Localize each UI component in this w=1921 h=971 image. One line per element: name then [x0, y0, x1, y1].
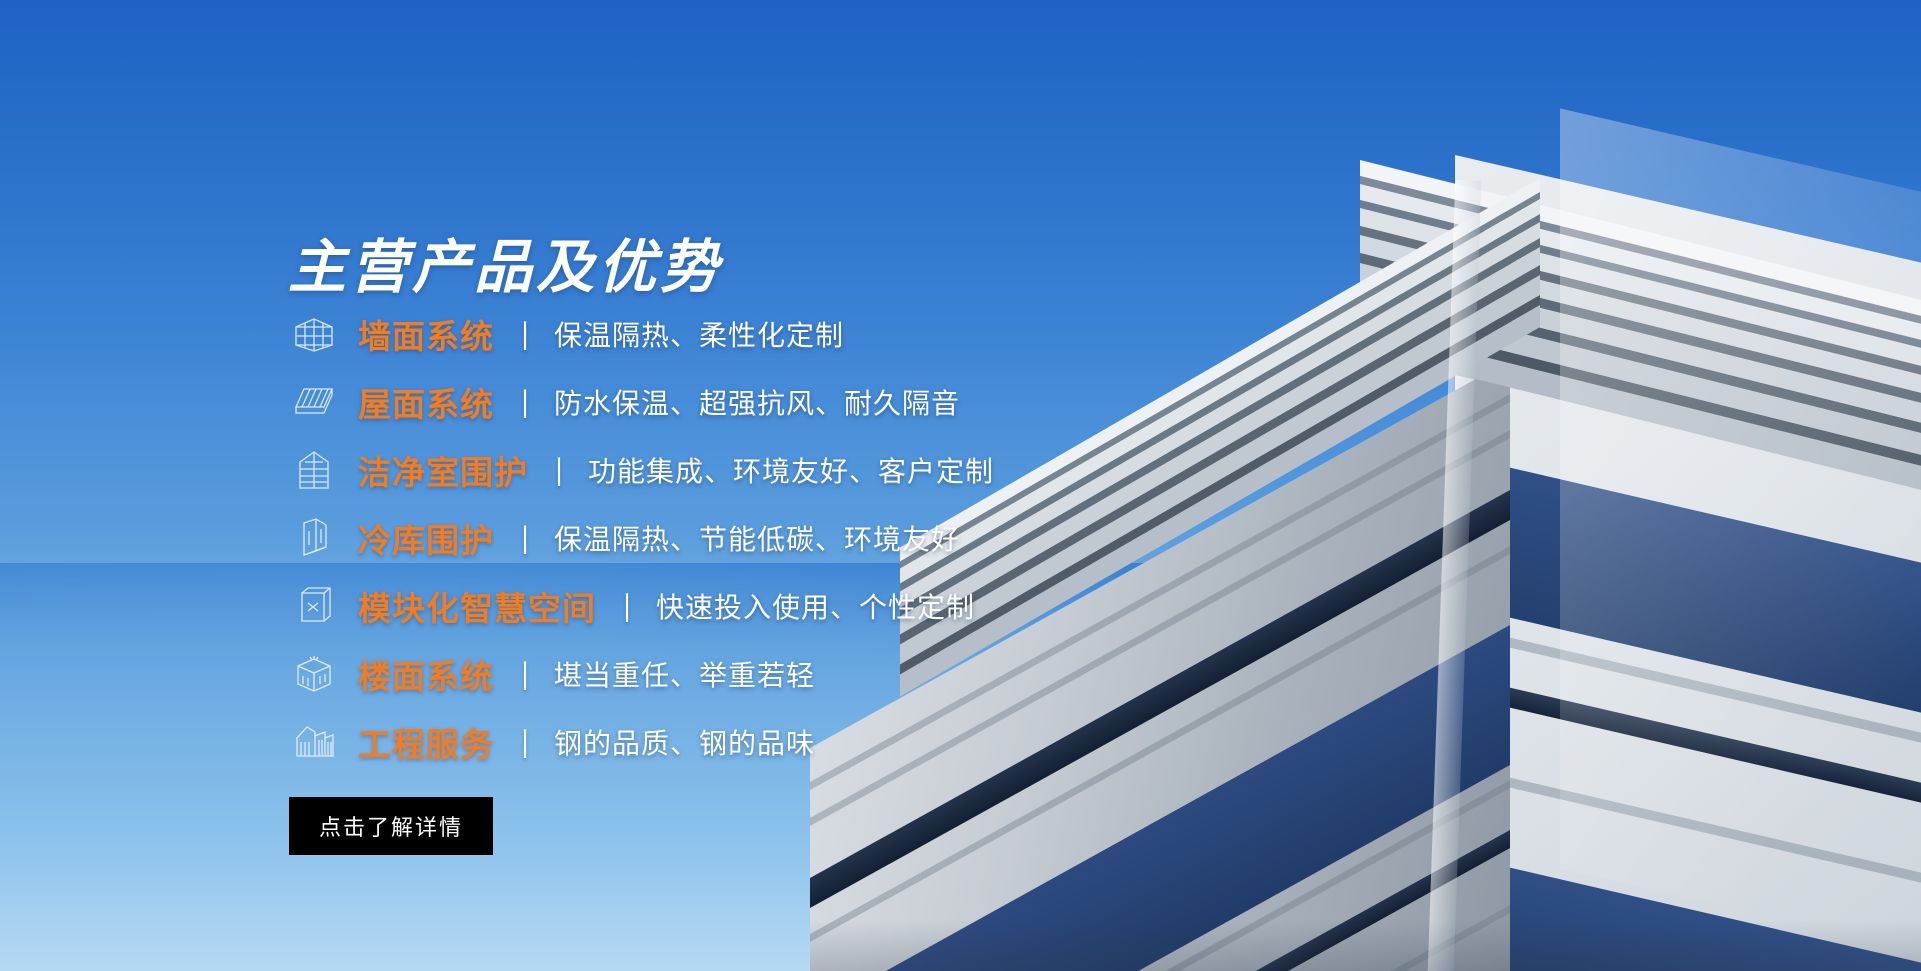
product-name: 模块化智慧空间 [358, 582, 596, 630]
product-row-roof-system[interactable]: 屋面系统 丨 防水保温、超强抗风、耐久隔音 [288, 368, 1148, 436]
product-list: 墙面系统 丨 保温隔热、柔性化定制 屋面系统 丨 防水保温、超强抗风、耐久隔音 [288, 300, 1148, 776]
product-name: 楼面系统 [358, 650, 494, 698]
product-description: 保温隔热、节能低碳、环境友好 [554, 518, 960, 558]
product-description: 保温隔热、柔性化定制 [554, 314, 844, 354]
learn-more-button[interactable]: 点击了解详情 [289, 797, 493, 855]
roof-system-icon [288, 380, 340, 424]
product-name: 工程服务 [358, 718, 494, 766]
product-separator: 丨 [550, 448, 569, 492]
product-separator: 丨 [516, 380, 535, 424]
product-row-cold-storage[interactable]: 冷库围护 丨 保温隔热、节能低碳、环境友好 [288, 504, 1148, 572]
product-name: 洁净室围护 [358, 446, 528, 494]
product-row-floor-system[interactable]: 楼面系统 丨 堪当重任、举重若轻 [288, 640, 1148, 708]
product-separator: 丨 [516, 720, 535, 764]
floor-system-icon [288, 652, 340, 696]
product-name: 冷库围护 [358, 514, 494, 562]
page-title: 主营产品及优势 [288, 239, 722, 297]
product-separator: 丨 [516, 516, 535, 560]
engineering-service-icon [288, 720, 340, 764]
product-description: 防水保温、超强抗风、耐久隔音 [554, 382, 960, 422]
cleanroom-icon [288, 448, 340, 492]
hero-content: 主营产品及优势 墙面系统 丨 保温隔热、柔性化定制 [0, 0, 900, 971]
wall-system-icon [288, 312, 340, 356]
product-name: 墙面系统 [358, 310, 494, 358]
product-description: 堪当重任、举重若轻 [554, 654, 815, 694]
hero-banner: 主营产品及优势 墙面系统 丨 保温隔热、柔性化定制 [0, 0, 1921, 971]
product-row-modular-space[interactable]: 模块化智慧空间 丨 快速投入使用、个性定制 [288, 572, 1148, 640]
product-description: 功能集成、环境友好、客户定制 [588, 450, 994, 490]
modular-space-icon [288, 584, 340, 628]
product-description: 钢的品质、钢的品味 [554, 722, 815, 762]
product-separator: 丨 [618, 584, 637, 628]
product-row-cleanroom[interactable]: 洁净室围护 丨 功能集成、环境友好、客户定制 [288, 436, 1148, 504]
product-name: 屋面系统 [358, 378, 494, 426]
product-row-wall-system[interactable]: 墙面系统 丨 保温隔热、柔性化定制 [288, 300, 1148, 368]
product-row-engineering-service[interactable]: 工程服务 丨 钢的品质、钢的品味 [288, 708, 1148, 776]
product-description: 快速投入使用、个性定制 [656, 586, 975, 626]
product-separator: 丨 [516, 652, 535, 696]
cold-storage-icon [288, 516, 340, 560]
product-separator: 丨 [516, 312, 535, 356]
